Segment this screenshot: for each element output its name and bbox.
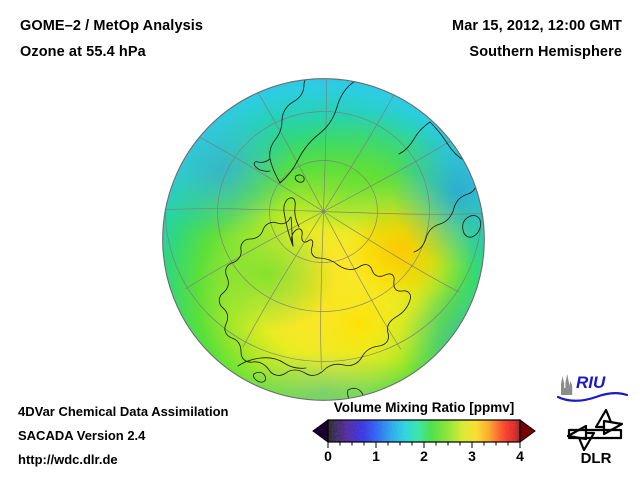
footer-line-version: SACADA Version 2.4	[18, 428, 145, 443]
figure-canvas: GOME–2 / MetOp Analysis Ozone at 55.4 hP…	[0, 0, 640, 480]
colorbar-title: Volume Mixing Ratio [ppmv]	[310, 400, 538, 415]
colorbar-scale	[310, 419, 538, 449]
dlr-logo: DLR	[566, 408, 628, 466]
dlr-pinwheel-icon	[568, 410, 622, 450]
cathedral-icon	[561, 374, 572, 395]
colorbar-tick-label-3: 3	[468, 448, 476, 464]
region-label: Southern Hemisphere	[469, 44, 622, 60]
riu-wordmark: RIU	[576, 373, 606, 392]
colorbar: Volume Mixing Ratio [ppmv]	[310, 400, 538, 472]
ozone-field	[162, 79, 485, 402]
page-title: GOME–2 / MetOp Analysis	[20, 18, 203, 34]
colorbar-tick-label-2: 2	[420, 448, 428, 464]
riu-logo: RIU	[556, 371, 630, 403]
colorbar-tick-label-1: 1	[372, 448, 380, 464]
colorbar-extend-max	[520, 420, 535, 442]
ozone-globe-map	[162, 78, 485, 401]
colorbar-extend-min	[313, 420, 328, 442]
footer-line-url: http://wdc.dlr.de	[18, 452, 118, 467]
dlr-wordmark: DLR	[581, 450, 612, 466]
colorbar-tick-label-0: 0	[324, 448, 332, 464]
footer-line-method: 4DVar Chemical Data Assimilation	[18, 404, 229, 419]
page-subtitle: Ozone at 55.4 hPa	[20, 44, 146, 60]
colorbar-tick-label-4: 4	[516, 448, 524, 464]
timestamp-label: Mar 15, 2012, 12:00 GMT	[452, 18, 622, 34]
